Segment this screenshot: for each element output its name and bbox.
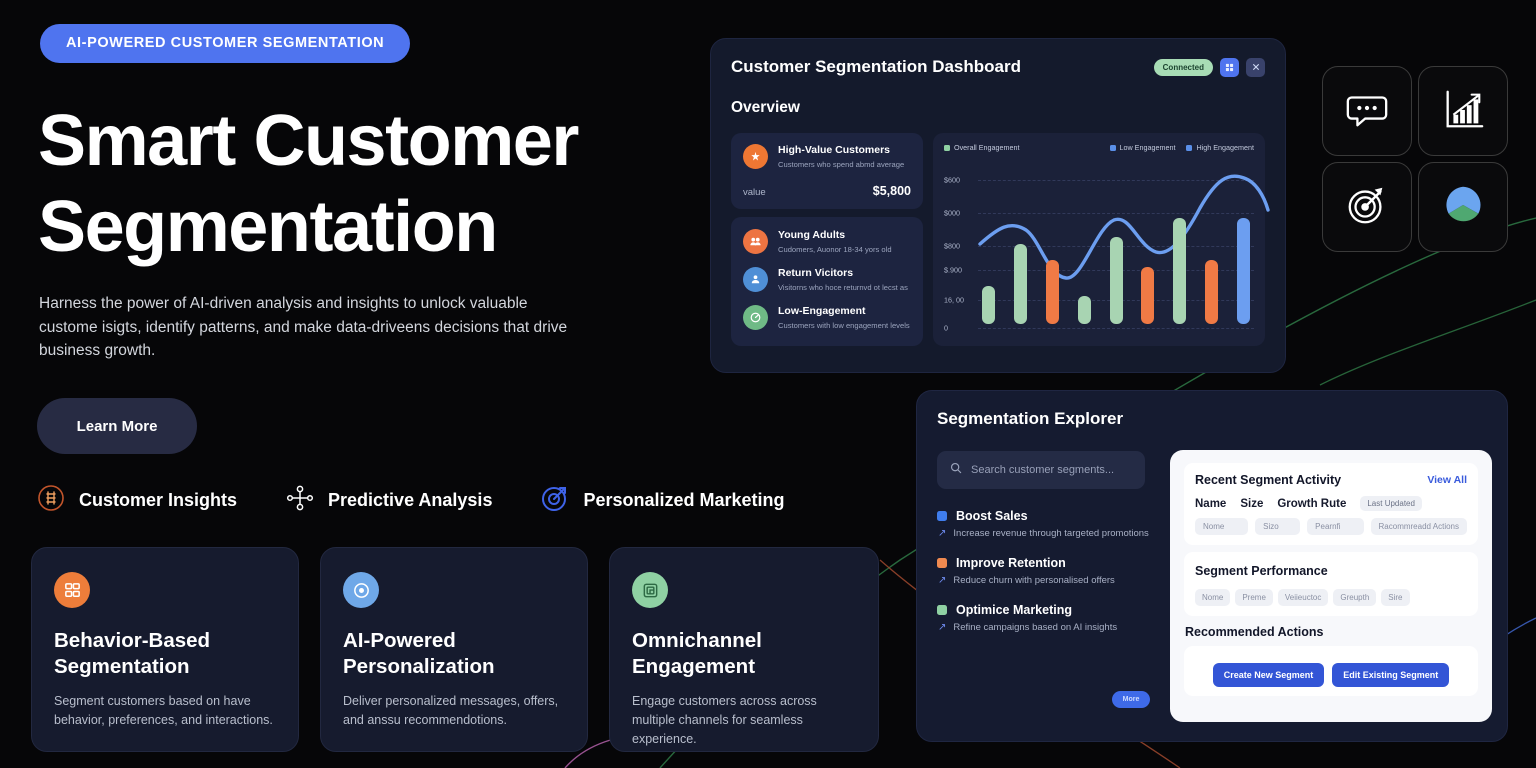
overview-label: Overview: [731, 99, 1265, 117]
table-cell: Sizo: [1255, 518, 1300, 535]
recommended-actions-title: Recommended Actions: [1185, 625, 1478, 639]
pill-label: Personalized Marketing: [583, 490, 784, 511]
growth-chart-icon: [1440, 86, 1486, 137]
pie-chart-icon: [1440, 182, 1486, 233]
search-input[interactable]: Search customer segments...: [937, 451, 1145, 489]
star-person-icon: [743, 144, 768, 169]
feature-card-title: Behavior-Based Segmentation: [54, 628, 276, 680]
target-circle-icon: [343, 572, 379, 608]
segment-desc: Customers with low engagement levels: [778, 320, 910, 331]
y-tick: $600: [944, 176, 960, 185]
goal-name: Optimice Marketing: [956, 603, 1072, 617]
recommended-actions-block: Recommended Actions Create New Segment E…: [1184, 623, 1478, 696]
segment-desc: Visitorns who hoce returnvd ot lecst as: [778, 282, 908, 293]
icon-tile-grid: [1322, 66, 1508, 252]
feature-card-title: AI-Powered Personalization: [343, 628, 565, 680]
column-header: Last Updated: [1360, 496, 1422, 511]
column-header: Growth Rute: [1277, 498, 1346, 510]
table-cell: Nome: [1195, 518, 1248, 535]
page-title: Smart Customer Segmentation: [38, 98, 678, 270]
node-network-icon: [285, 483, 315, 518]
grid-view-button[interactable]: [1220, 58, 1239, 77]
status-badge: Connected: [1154, 59, 1213, 76]
arrow-up-right-icon: ↗: [938, 575, 946, 586]
page-root: AI-POWERED CUSTOMER SEGMENTATION Smart C…: [0, 0, 1536, 768]
segment-name: Young Adults: [778, 229, 892, 242]
segment-column: High-Value Customers Customers who spend…: [731, 133, 923, 346]
table-header-row: Name Size Growth Rute Last Updated: [1195, 496, 1467, 511]
gauge-icon: [743, 305, 768, 330]
performance-cell: Veiieuctoc: [1278, 589, 1328, 606]
hero-pill-row: Customer Insights Predictive Analysis: [36, 483, 833, 518]
create-new-segment-button[interactable]: Create New Segment: [1213, 663, 1325, 687]
activity-panel: Recent Segment Activity View All Name Si…: [1170, 450, 1492, 722]
performance-cell: Nome: [1195, 589, 1230, 606]
segment-item-return-visitors[interactable]: Return Vicitors Visitorns who hoce retur…: [743, 267, 911, 293]
hero-badge: AI-POWERED CUSTOMER SEGMENTATION: [40, 24, 410, 63]
legend-item-overall: Overall Engagement: [944, 143, 1020, 152]
goal-color-swatch: [937, 558, 947, 568]
explorer-title: Segmentation Explorer: [937, 409, 1487, 429]
chat-bubble-icon: [1344, 86, 1390, 137]
insights-hub-icon: [36, 483, 66, 518]
recent-activity-title: Recent Segment Activity: [1195, 473, 1341, 487]
segment-item-young-adults[interactable]: Young Adults Cudomers, Auonor 18-34 yors…: [743, 229, 911, 255]
feature-card-title: Omnichannel Engagement: [632, 628, 856, 680]
chart-plot-area: $600 $000 $800 $.900 16, 00 0: [944, 158, 1254, 336]
segment-blocks-icon: [54, 572, 90, 608]
performance-cell: Preme: [1235, 589, 1273, 606]
feature-card-desc: Segment customers based on have behavior…: [54, 692, 276, 730]
goal-desc: Reduce churn with personalised offers: [953, 575, 1114, 586]
feature-card-row: Behavior-Based Segmentation Segment cust…: [31, 547, 879, 752]
legend-item-low: Low Engagement: [1110, 143, 1176, 152]
segment-name: High-Value Customers: [778, 144, 904, 157]
pill-label: Customer Insights: [79, 490, 237, 511]
goal-name: Improve Retention: [956, 556, 1066, 570]
view-all-link[interactable]: View All: [1427, 474, 1467, 486]
pill-personalized-marketing[interactable]: Personalized Marketing: [540, 483, 784, 518]
y-tick: $800: [944, 242, 960, 251]
learn-more-button[interactable]: Learn More: [37, 398, 197, 454]
chart-bar: [1173, 218, 1186, 324]
people-group-icon: [743, 229, 768, 254]
goal-desc: Refine campaigns based on AI insights: [953, 622, 1117, 633]
arrow-up-right-icon: ↗: [938, 528, 946, 539]
more-button[interactable]: More: [1112, 691, 1150, 708]
chart-bar: [1110, 237, 1123, 324]
segment-desc: Cudomers, Auonor 18-34 yors old: [778, 244, 892, 255]
repeat-users-icon: [743, 267, 768, 292]
column-header: Size: [1240, 498, 1263, 510]
pill-predictive-analysis[interactable]: Predictive Analysis: [285, 483, 492, 518]
legend-item-high: High Engagement: [1186, 143, 1254, 152]
search-icon: [950, 461, 962, 479]
recent-activity-block: Recent Segment Activity View All Name Si…: [1184, 463, 1478, 545]
target-arrow-icon: [540, 483, 570, 518]
search-placeholder: Search customer segments...: [971, 464, 1114, 476]
engagement-chart: Overall Engagement Low Engagement High E…: [933, 133, 1265, 346]
dashboard-title: Customer Segmentation Dashboard: [731, 57, 1021, 77]
chart-bar: [1014, 244, 1027, 325]
segment-performance-block: Segment Performance Nome Preme Veiieucto…: [1184, 552, 1478, 616]
table-row[interactable]: Nome Sizo Pearnfi Racommreadd Actions: [1195, 518, 1467, 535]
table-cell: Pearnfi: [1307, 518, 1363, 535]
tile-chat[interactable]: [1322, 66, 1412, 156]
performance-row[interactable]: Nome Preme Veiieuctoc Greupth Sire: [1195, 589, 1467, 606]
feature-card-desc: Engage customers across across multiple …: [632, 692, 856, 749]
tile-growth-chart[interactable]: [1418, 66, 1508, 156]
pill-label: Predictive Analysis: [328, 490, 492, 511]
dashboard-panel: Customer Segmentation Dashboard Connecte…: [710, 38, 1286, 373]
feature-card-ai-powered[interactable]: AI-Powered Personalization Deliver perso…: [320, 547, 588, 752]
feature-card-desc: Deliver personalized messages, offers, a…: [343, 692, 565, 730]
y-tick: 16, 00: [944, 296, 964, 305]
segment-list: Young Adults Cudomers, Auonor 18-34 yors…: [731, 217, 923, 346]
value-amount: $5,800: [873, 184, 911, 198]
dashboard-controls: Connected: [1154, 58, 1265, 77]
chart-bar: [1141, 267, 1154, 325]
tile-target[interactable]: [1322, 162, 1412, 252]
segment-desc: Customers who spend abmd average: [778, 159, 904, 170]
arrow-up-right-icon: ↗: [938, 622, 946, 633]
table-cell: Racommreadd Actions: [1371, 518, 1467, 535]
value-label: value: [743, 187, 766, 198]
segment-performance-title: Segment Performance: [1195, 564, 1328, 578]
chart-legend: Overall Engagement Low Engagement High E…: [944, 143, 1254, 152]
y-tick: $.900: [944, 266, 962, 275]
goal-color-swatch: [937, 511, 947, 521]
goal-desc: Increase revenue through targeted promot…: [953, 528, 1148, 539]
chart-bar: [1078, 296, 1091, 324]
highlight-segment-card[interactable]: High-Value Customers Customers who spend…: [731, 133, 923, 209]
feature-card-omnichannel[interactable]: Omnichannel Engagement Engage customers …: [609, 547, 879, 752]
feature-card-behavior-based[interactable]: Behavior-Based Segmentation Segment cust…: [31, 547, 299, 752]
chart-bar: [1046, 260, 1059, 324]
segment-name: Return Vicitors: [778, 267, 908, 280]
nested-squares-icon: [632, 572, 668, 608]
chart-bars: [982, 209, 1250, 324]
chart-bar: [1205, 260, 1218, 324]
pill-customer-insights[interactable]: Customer Insights: [36, 483, 237, 518]
tile-pie-chart[interactable]: [1418, 162, 1508, 252]
close-icon[interactable]: [1246, 58, 1265, 77]
chart-bar: [982, 286, 995, 324]
y-tick: $000: [944, 209, 960, 218]
edit-existing-segment-button[interactable]: Edit Existing Segment: [1332, 663, 1449, 687]
goal-color-swatch: [937, 605, 947, 615]
segment-item-low-engagement[interactable]: Low-Engagement Customers with low engage…: [743, 305, 911, 331]
goal-name: Boost Sales: [956, 509, 1028, 523]
column-header: Name: [1195, 498, 1226, 510]
dashboard-header: Customer Segmentation Dashboard Connecte…: [731, 57, 1265, 77]
segment-name: Low-Engagement: [778, 305, 910, 318]
performance-cell: Sire: [1381, 589, 1409, 606]
dashboard-body: High-Value Customers Customers who spend…: [731, 133, 1265, 346]
target-dartboard-icon: [1344, 182, 1390, 233]
chart-bar: [1237, 218, 1250, 324]
performance-cell: Greupth: [1333, 589, 1376, 606]
hero-subtitle: Harness the power of AI-driven analysis …: [39, 292, 579, 363]
y-tick: 0: [944, 324, 948, 333]
